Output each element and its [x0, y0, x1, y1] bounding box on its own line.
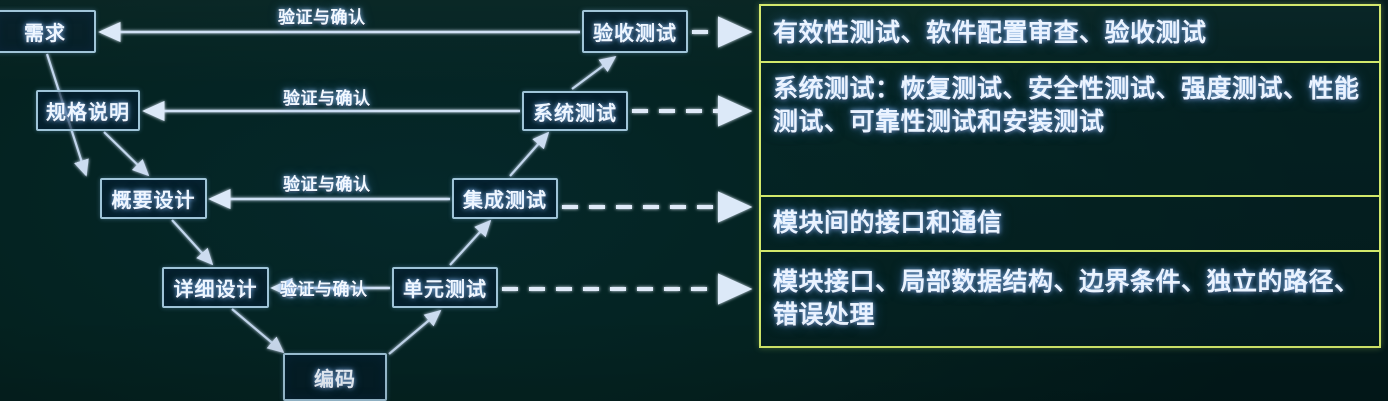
stage-box-requirements[interactable]: 需求	[0, 10, 96, 53]
verification-label-integration: 验证与确认	[283, 170, 371, 195]
verification-label-unit: 验证与确认	[280, 275, 368, 300]
stage-box-specification[interactable]: 规格说明	[36, 90, 140, 131]
test-content-panel: 有效性测试、软件配置审查、验收测试 系统测试：恢复测试、安全性测试、强度测试、性…	[759, 4, 1381, 348]
v-model-diagram: 需求 规格说明 概要设计 详细设计 编码 验收测试 系统测试 集成测试 单元测试…	[0, 0, 1388, 401]
stage-box-outline-design[interactable]: 概要设计	[100, 178, 207, 219]
stage-box-integration-testing[interactable]: 集成测试	[452, 178, 558, 219]
stage-box-unit-testing[interactable]: 单元测试	[392, 267, 498, 308]
panel-row-acceptance-testing: 有效性测试、软件配置审查、验收测试	[761, 6, 1379, 63]
stage-box-acceptance-testing[interactable]: 验收测试	[582, 10, 688, 53]
panel-row-unit-testing: 模块接口、局部数据结构、边界条件、独立的路径、错误处理	[761, 252, 1379, 346]
verification-label-system: 验证与确认	[283, 84, 371, 109]
stage-box-coding[interactable]: 编码	[283, 353, 387, 401]
panel-row-integration-testing: 模块间的接口和通信	[761, 197, 1379, 252]
verification-label-acceptance: 验证与确认	[278, 3, 366, 28]
output-dashed-edges	[502, 32, 748, 289]
stage-box-system-testing[interactable]: 系统测试	[522, 91, 628, 131]
stage-box-detailed-design[interactable]: 详细设计	[162, 267, 269, 308]
verification-edges	[101, 32, 580, 288]
panel-row-system-testing: 系统测试：恢复测试、安全性测试、强度测试、性能测试、可靠性测试和安装测试	[761, 63, 1379, 197]
